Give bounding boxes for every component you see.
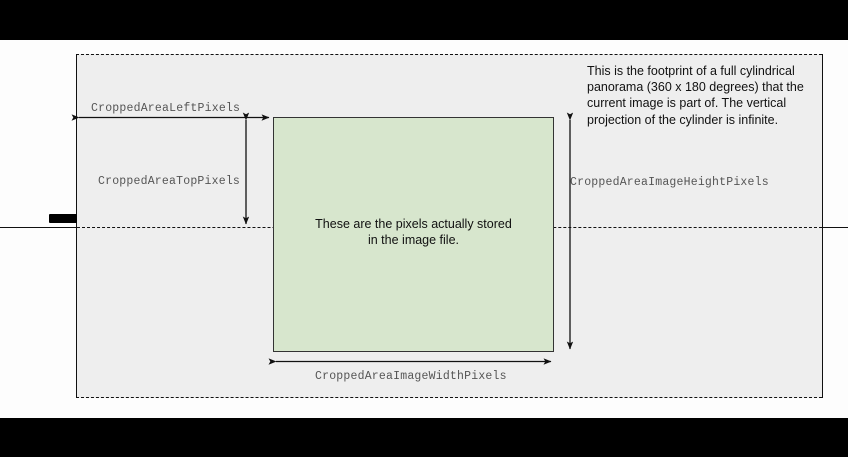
label-cropped-area-top-pixels: CroppedAreaTopPixels bbox=[98, 175, 240, 188]
horizon-line-right bbox=[822, 227, 848, 228]
horizon-marker-bar bbox=[49, 214, 77, 223]
stored-caption-line-2: in the image file. bbox=[273, 232, 554, 248]
footprint-explanation-note: This is the footprint of a full cylindri… bbox=[587, 63, 823, 128]
stored-caption-line-1: These are the pixels actually stored bbox=[273, 216, 554, 232]
label-cropped-area-image-height-pixels: CroppedAreaImageHeightPixels bbox=[570, 176, 769, 189]
footprint-top-edge bbox=[76, 54, 822, 55]
stored-pixels-caption: These are the pixels actually stored in … bbox=[273, 216, 554, 248]
label-cropped-area-image-width-pixels: CroppedAreaImageWidthPixels bbox=[315, 370, 507, 383]
diagram-canvas: These are the pixels actually stored in … bbox=[0, 0, 848, 457]
label-cropped-area-left-pixels: CroppedAreaLeftPixels bbox=[91, 102, 240, 115]
horizon-line-left bbox=[0, 227, 77, 228]
footprint-left-edge bbox=[76, 54, 77, 398]
footprint-bottom-edge bbox=[76, 397, 822, 398]
